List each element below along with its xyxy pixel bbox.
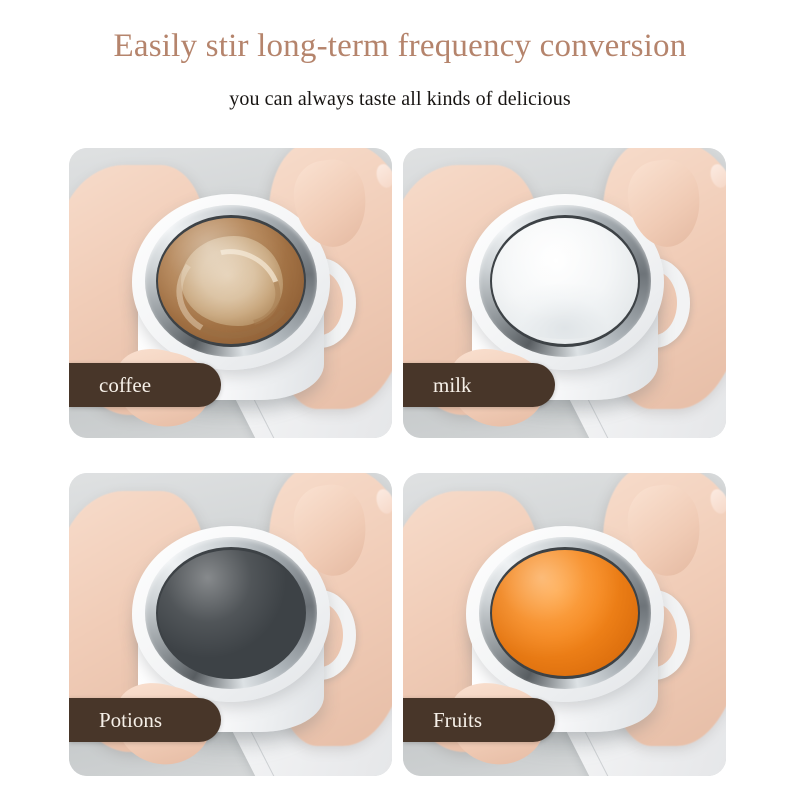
liquid-surface-coffee [158,218,304,344]
header: Easily stir long-term frequency conversi… [0,0,800,112]
fingernail [374,488,392,516]
page-subtitle: you can always taste all kinds of delici… [0,86,800,112]
product-use-case-grid: coffee [69,148,734,776]
use-case-panel-milk[interactable]: milk [403,148,726,438]
liquid-highlight [158,218,304,344]
use-case-panel-coffee[interactable]: coffee [69,148,392,438]
fingernail [708,488,726,516]
liquid-surface-milk [492,218,638,344]
page-title: Easily stir long-term frequency conversi… [0,26,800,66]
liquid-highlight [492,218,638,344]
mug-top-shell [466,526,664,702]
panel-label-potions: Potions [69,698,221,742]
use-case-panel-potions[interactable]: Potions [69,473,392,776]
panel-label-milk: milk [403,363,555,407]
panel-label-fruits: Fruits [403,698,555,742]
liquid-highlight [158,550,304,676]
liquid-highlight [492,550,638,676]
panel-label-coffee: coffee [69,363,221,407]
use-case-panel-fruits[interactable]: Fruits [403,473,726,776]
liquid-surface-fruits [492,550,638,676]
liquid-surface-potions [158,550,304,676]
mug-top-shell [132,526,330,702]
